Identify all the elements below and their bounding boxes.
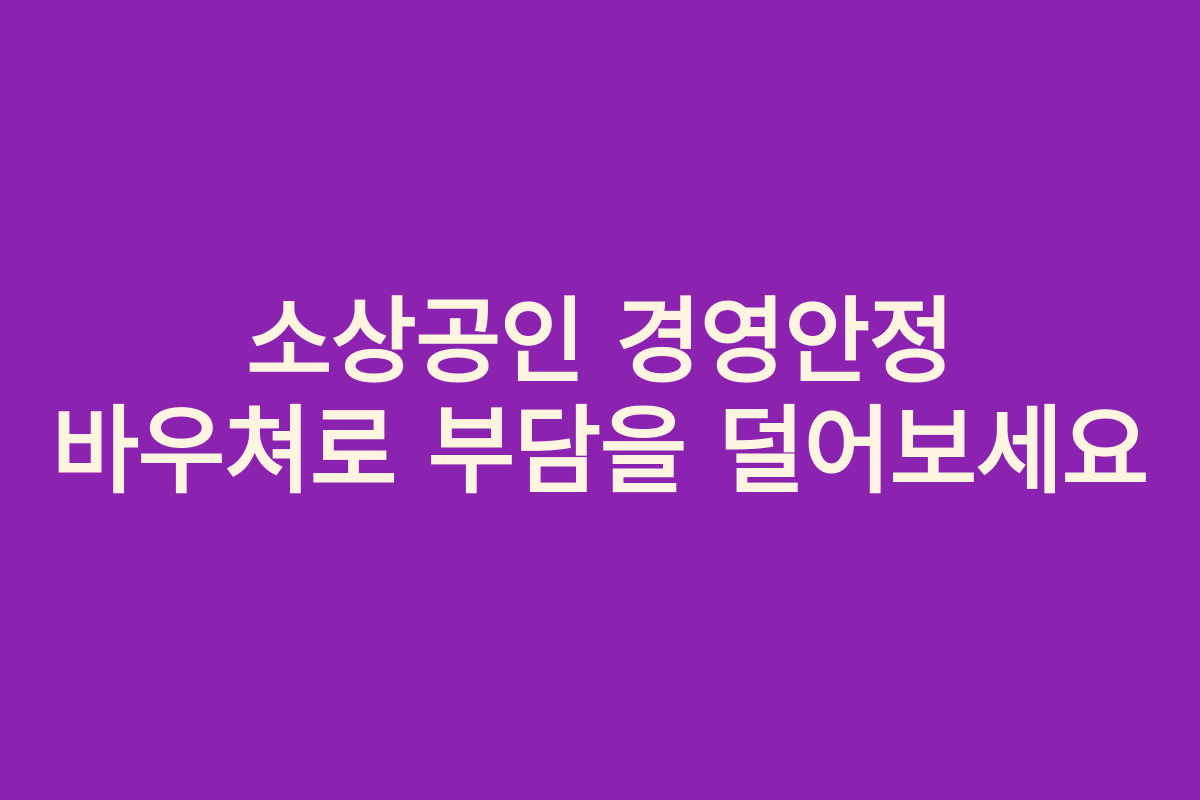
headline-block: 소상공인 경영안정 바우쳐로 부담을 덜어보세요 — [0, 296, 1200, 500]
promo-banner: 소상공인 경영안정 바우쳐로 부담을 덜어보세요 — [0, 0, 1200, 800]
headline-line-1: 소상공인 경영안정 — [0, 296, 1200, 405]
headline-line-2: 바우쳐로 부담을 덜어보세요 — [0, 405, 1200, 500]
